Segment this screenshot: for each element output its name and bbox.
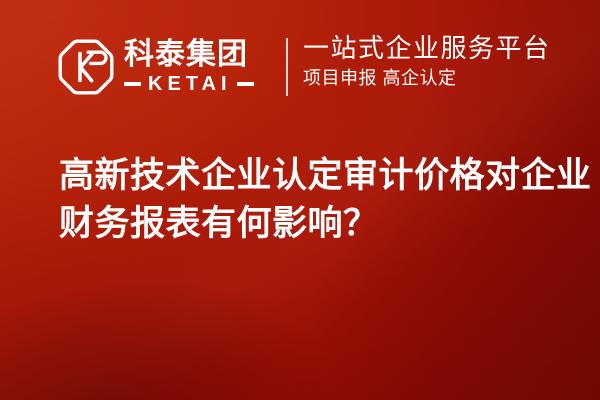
tagline-block: 一站式企业服务平台 项目申报 高企认定 bbox=[303, 34, 551, 89]
wordmark-dash-left bbox=[124, 82, 141, 86]
wordmark-dash-right bbox=[237, 82, 254, 86]
tagline-secondary: 项目申报 高企认定 bbox=[303, 69, 551, 89]
tagline-primary: 一站式企业服务平台 bbox=[303, 34, 551, 62]
promo-banner: 科泰集团 KETAI 一站式企业服务平台 项目申报 高企认定 高新技术企业认定审… bbox=[0, 0, 600, 400]
company-name-en-row: KETAI bbox=[124, 74, 254, 94]
logo-wordmark: 科泰集团 KETAI bbox=[124, 36, 254, 98]
ketai-logo-icon bbox=[57, 38, 115, 96]
company-name-en: KETAI bbox=[141, 74, 237, 94]
headline: 高新技术企业认定审计价格对企业 财务报表有何影响？ bbox=[59, 152, 569, 248]
headline-line-1: 高新技术企业认定审计价格对企业 bbox=[59, 152, 569, 200]
headline-line-2: 财务报表有何影响？ bbox=[59, 200, 569, 248]
brand-header: 科泰集团 KETAI bbox=[57, 31, 254, 103]
header-divider bbox=[286, 38, 288, 96]
company-name-cn: 科泰集团 bbox=[124, 40, 254, 70]
